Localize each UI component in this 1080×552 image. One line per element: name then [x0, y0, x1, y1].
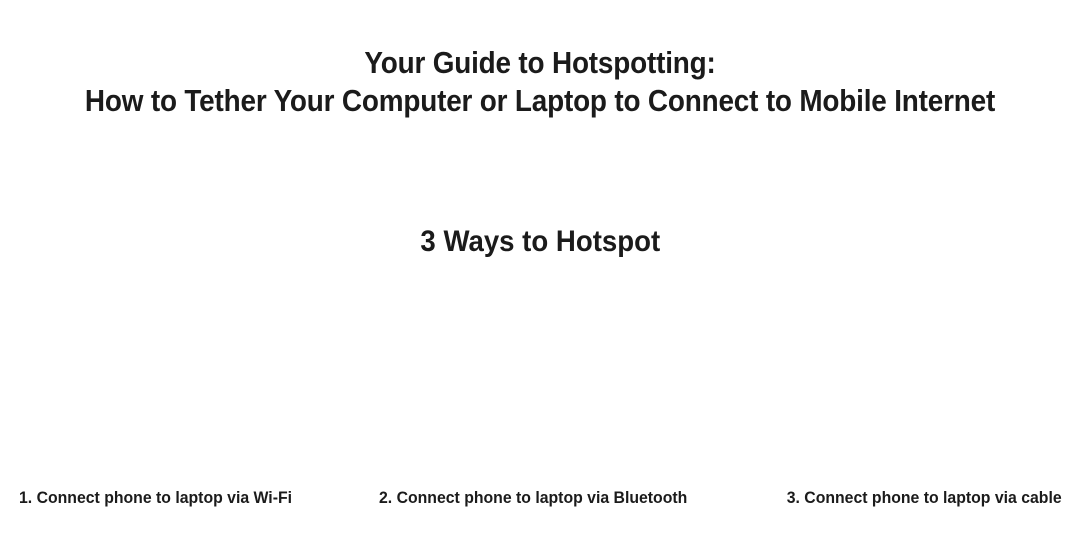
infographic-page: Your Guide to Hotspotting: How to Tether… — [0, 0, 1080, 552]
illustration-placeholder-bluetooth — [360, 290, 720, 470]
illustration-placeholder-wifi — [0, 290, 360, 470]
step-item: 2. Connect phone to laptop via Bluetooth — [360, 486, 720, 510]
illustration-row — [0, 290, 1080, 470]
title-line-2: How to Tether Your Computer or Laptop to… — [54, 82, 1026, 120]
section-heading: 3 Ways to Hotspot — [0, 222, 1080, 262]
step-caption-1: 1. Connect phone to laptop via Wi-Fi — [19, 486, 292, 510]
step-caption-3: 3. Connect phone to laptop via cable — [787, 486, 1062, 510]
step-caption-row: 1. Connect phone to laptop via Wi-Fi 2. … — [0, 486, 1080, 514]
section-heading-text: 3 Ways to Hotspot — [420, 222, 660, 262]
illustration-placeholder-cable — [720, 290, 1080, 470]
title-line-1: Your Guide to Hotspotting: — [54, 44, 1026, 82]
step-item: 3. Connect phone to laptop via cable — [720, 486, 1080, 510]
page-title: Your Guide to Hotspotting: How to Tether… — [0, 44, 1080, 120]
step-caption-2: 2. Connect phone to laptop via Bluetooth — [379, 486, 687, 510]
step-item: 1. Connect phone to laptop via Wi-Fi — [0, 486, 360, 510]
